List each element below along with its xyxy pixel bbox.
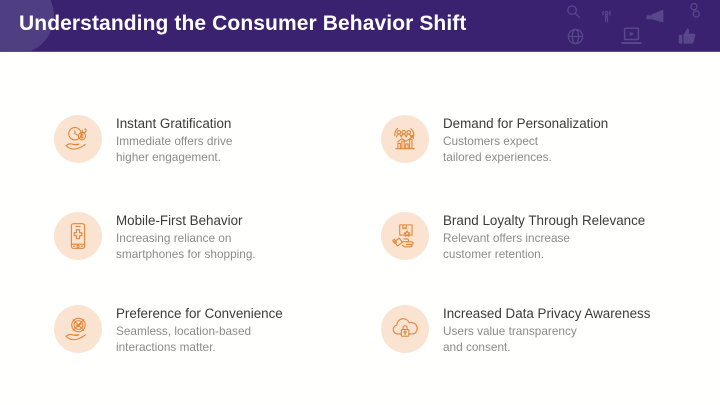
list-item-text: Preference for Convenience Seamless, loc… [116, 304, 283, 355]
thumbs-up-icon [677, 27, 697, 46]
list-item: Instant Gratification Immediate offers d… [54, 114, 354, 165]
list-item: Mobile-First Behavior Increasing relianc… [54, 211, 354, 262]
list-item-title: Instant Gratification [116, 115, 233, 132]
list-item-description: Customers expect tailored experiences. [443, 134, 608, 165]
list-item-text: Demand for Personalization Customers exp… [443, 114, 608, 165]
slide-header: Understanding the Consumer Behavior Shif… [0, 0, 720, 52]
list-item-text: Mobile-First Behavior Increasing relianc… [116, 211, 256, 262]
megaphone-icon [644, 8, 665, 24]
list-item-title: Increased Data Privacy Awareness [443, 305, 650, 322]
megaphone-star-thumbsup-icon [381, 212, 429, 260]
smartphone-plus-icon [54, 212, 102, 260]
cloud-lock-icon [381, 305, 429, 353]
list-item-title: Mobile-First Behavior [116, 212, 256, 229]
audience-growth-chart-icon [381, 115, 429, 163]
globe-icon [566, 27, 585, 46]
list-item-title: Demand for Personalization [443, 115, 608, 132]
list-item-text: Increased Data Privacy Awareness Users v… [443, 304, 650, 355]
list-item: Preference for Convenience Seamless, loc… [54, 304, 354, 355]
list-item-title: Preference for Convenience [116, 305, 283, 322]
page-title: Understanding the Consumer Behavior Shif… [19, 12, 466, 36]
benefits-grid: Instant Gratification Immediate offers d… [0, 52, 720, 405]
hand-holding-check-badge-icon [54, 305, 102, 353]
wifi-antenna-icon [598, 8, 615, 25]
link-chain-icon [688, 2, 703, 19]
list-item-description: Increasing reliance on smartphones for s… [116, 231, 256, 262]
list-item-text: Brand Loyalty Through Relevance Relevant… [443, 211, 645, 262]
list-item-description: Users value transparency and consent. [443, 324, 650, 355]
list-item: Demand for Personalization Customers exp… [381, 114, 701, 165]
list-item-description: Seamless, location-based interactions ma… [116, 324, 283, 355]
video-player-laptop-icon [620, 27, 643, 46]
list-item: Brand Loyalty Through Relevance Relevant… [381, 211, 701, 262]
list-item-description: Relevant offers increase customer retent… [443, 231, 645, 262]
hand-holding-clock-money-icon [54, 115, 102, 163]
list-item-description: Immediate offers drive higher engagement… [116, 134, 233, 165]
search-icon [565, 3, 582, 20]
list-item-title: Brand Loyalty Through Relevance [443, 212, 645, 229]
list-item-text: Instant Gratification Immediate offers d… [116, 114, 233, 165]
slide: Understanding the Consumer Behavior Shif… [0, 0, 720, 405]
header-decorative-icon-group [540, 0, 720, 52]
list-item: Increased Data Privacy Awareness Users v… [381, 304, 701, 355]
